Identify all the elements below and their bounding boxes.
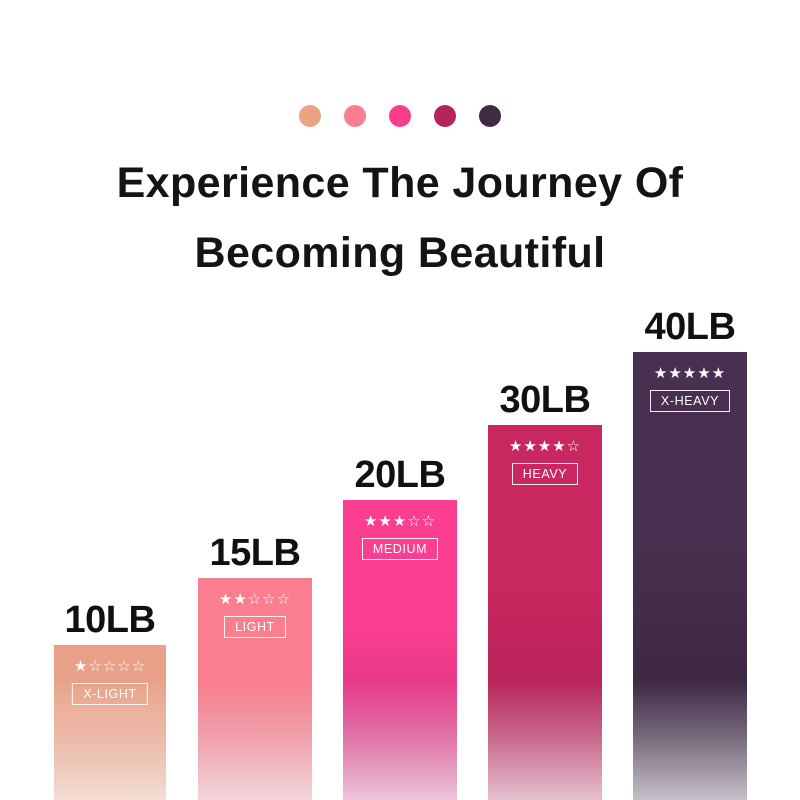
bar-column: ★★★★☆HEAVY (488, 425, 602, 800)
star-rating-icon: ★★★☆☆ (351, 514, 449, 529)
bar-group-10lb: 10LB★☆☆☆☆X-LIGHT (54, 593, 166, 800)
bar-group-20lb: 20LB★★★☆☆MEDIUM (343, 448, 457, 800)
bar-group-30lb: 30LB★★★★☆HEAVY (488, 373, 602, 800)
bar-weight-label: 30LB (500, 381, 591, 419)
bar-column: ★★★★★X-HEAVY (633, 352, 747, 800)
resistance-level-label: MEDIUM (362, 538, 438, 560)
bar-badge: ★★★★☆HEAVY (496, 439, 594, 485)
bar-badge: ★☆☆☆☆X-LIGHT (62, 659, 158, 705)
bar-weight-label: 20LB (355, 456, 446, 494)
bar-weight-label: 40LB (645, 308, 736, 346)
bar-group-40lb: 40LB★★★★★X-HEAVY (633, 300, 747, 800)
bar-group-15lb: 15LB★★☆☆☆LIGHT (198, 526, 312, 800)
star-rating-icon: ★★★★★ (641, 366, 739, 381)
star-rating-icon: ★★☆☆☆ (206, 592, 304, 607)
star-rating-icon: ★☆☆☆☆ (62, 659, 158, 674)
bar-column: ★★☆☆☆LIGHT (198, 578, 312, 800)
bar-weight-label: 10LB (65, 601, 156, 639)
bar-column: ★★★☆☆MEDIUM (343, 500, 457, 800)
bar-badge: ★★★★★X-HEAVY (641, 366, 739, 412)
resistance-level-label: HEAVY (512, 463, 578, 485)
bar-fill (633, 352, 747, 800)
bar-column: ★☆☆☆☆X-LIGHT (54, 645, 166, 800)
bar-weight-label: 15LB (210, 534, 301, 572)
bar-badge: ★★☆☆☆LIGHT (206, 592, 304, 638)
poster-canvas: Experience The Journey Of Becoming Beaut… (0, 0, 800, 800)
resistance-level-label: X-LIGHT (72, 683, 148, 705)
resistance-level-label: X-HEAVY (650, 390, 730, 412)
star-rating-icon: ★★★★☆ (496, 439, 594, 454)
resistance-level-label: LIGHT (224, 616, 286, 638)
bar-badge: ★★★☆☆MEDIUM (351, 514, 449, 560)
resistance-bar-chart: 10LB★☆☆☆☆X-LIGHT15LB★★☆☆☆LIGHT20LB★★★☆☆M… (0, 0, 800, 800)
